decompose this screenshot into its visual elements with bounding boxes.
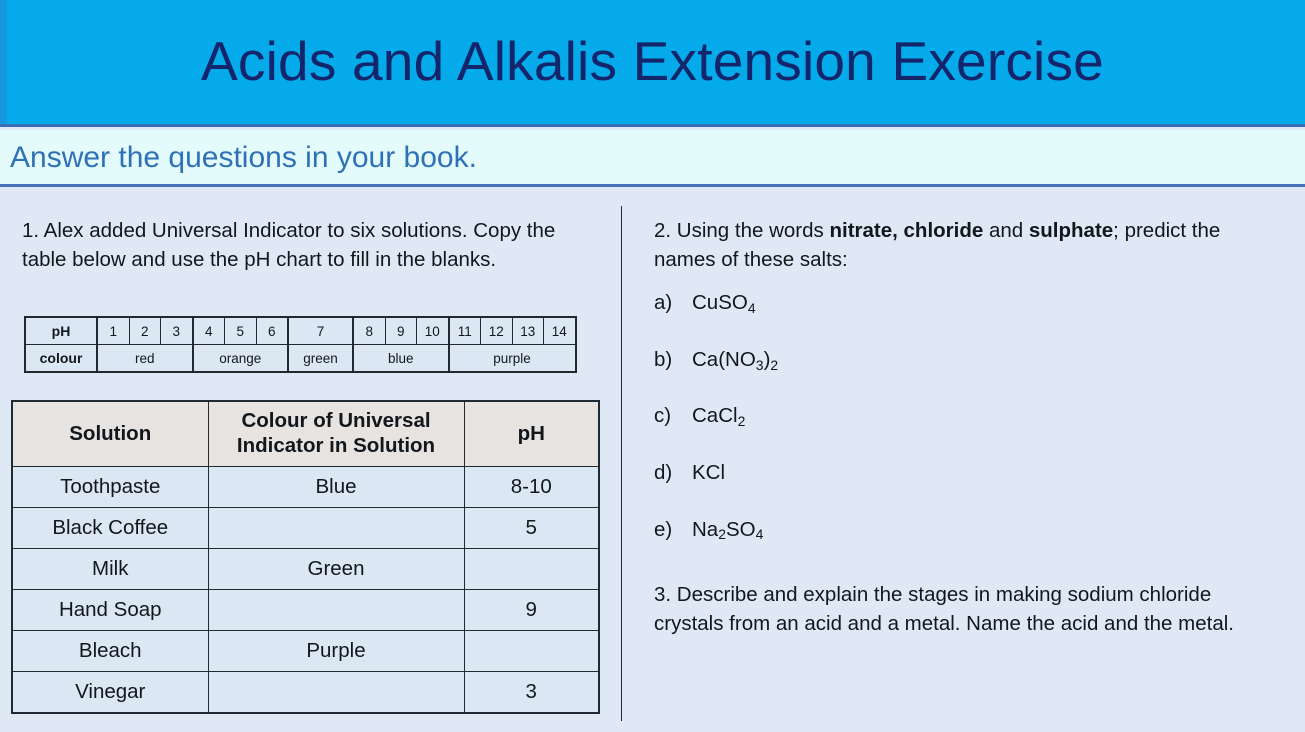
salt-letter: a) <box>654 290 692 317</box>
solutions-table: Solution Colour of Universal Indicator i… <box>11 400 600 714</box>
table-row: Black Coffee 5 <box>12 508 599 549</box>
column-header-colour: Colour of Universal Indicator in Solutio… <box>208 401 464 467</box>
subtitle-band: Answer the questions in your book. <box>0 130 1305 187</box>
ph-value-cell: 8 <box>353 317 385 345</box>
salt-formula: Na2SO4 <box>692 517 763 544</box>
ph-value-cell: 1 <box>97 317 129 345</box>
q2-middle: and <box>983 219 1029 242</box>
cell-ph <box>464 631 599 672</box>
page-title: Acids and Alkalis Extension Exercise <box>201 33 1104 91</box>
list-item: a) CuSO4 <box>654 290 1254 317</box>
ph-chart-row-colour: colour red orange green blue purple <box>25 345 576 373</box>
list-item: d) KCl <box>654 460 1254 487</box>
cell-ph: 3 <box>464 672 599 714</box>
q2-bold-nitrate-chloride: nitrate, chloride <box>829 219 983 242</box>
title-band: Acids and Alkalis Extension Exercise <box>0 0 1305 127</box>
salt-formula: Ca(NO3)2 <box>692 347 778 374</box>
right-column: 2. Using the words nitrate, chloride and… <box>640 190 1300 732</box>
cell-colour: Purple <box>208 631 464 672</box>
table-header-row: Solution Colour of Universal Indicator i… <box>12 401 599 467</box>
table-row: Hand Soap 9 <box>12 590 599 631</box>
table-row: Toothpaste Blue 8-10 <box>12 467 599 508</box>
salt-formula-list: a) CuSO4 b) Ca(NO3)2 c) CaCl2 d) KCl e) … <box>654 290 1254 573</box>
column-header-solution: Solution <box>12 401 208 467</box>
ph-colour-cell-purple: purple <box>449 345 576 373</box>
salt-formula: CaCl2 <box>692 403 745 430</box>
left-column: 1. Alex added Universal Indicator to six… <box>0 190 620 732</box>
content-area: 1. Alex added Universal Indicator to six… <box>0 190 1305 732</box>
q2-bold-sulphate: sulphate <box>1029 219 1113 242</box>
salt-letter: e) <box>654 517 692 544</box>
ph-value-cell: 13 <box>512 317 544 345</box>
salt-letter: c) <box>654 403 692 430</box>
column-divider <box>621 206 622 721</box>
salt-formula: KCl <box>692 460 725 487</box>
ph-value-cell: 3 <box>161 317 193 345</box>
list-item: b) Ca(NO3)2 <box>654 347 1254 374</box>
ph-colour-cell-blue: blue <box>353 345 449 373</box>
cell-ph <box>464 549 599 590</box>
ph-value-cell: 14 <box>544 317 576 345</box>
list-item: c) CaCl2 <box>654 403 1254 430</box>
column-header-ph: pH <box>464 401 599 467</box>
cell-solution: Bleach <box>12 631 208 672</box>
ph-value-cell: 11 <box>449 317 481 345</box>
ph-value-cell: 9 <box>385 317 417 345</box>
ph-chart-table: pH 1 2 3 4 5 6 7 8 9 10 11 12 13 14 <box>24 316 577 373</box>
salt-letter: d) <box>654 460 692 487</box>
ph-chart-label-colour: colour <box>25 345 97 373</box>
question-2-text: 2. Using the words nitrate, chloride and… <box>654 216 1254 274</box>
ph-colour-cell-red: red <box>97 345 193 373</box>
salt-letter: b) <box>654 347 692 374</box>
question-1-text: 1. Alex added Universal Indicator to six… <box>22 216 592 274</box>
table-row: Bleach Purple <box>12 631 599 672</box>
ph-value-cell: 10 <box>417 317 449 345</box>
question-3-text: 3. Describe and explain the stages in ma… <box>654 580 1279 638</box>
cell-colour <box>208 508 464 549</box>
ph-chart-label-ph: pH <box>25 317 97 345</box>
salt-formula: CuSO4 <box>692 290 756 317</box>
cell-colour <box>208 672 464 714</box>
cell-colour: Green <box>208 549 464 590</box>
ph-colour-cell-orange: orange <box>193 345 289 373</box>
ph-value-cell: 6 <box>256 317 288 345</box>
cell-solution: Vinegar <box>12 672 208 714</box>
ph-colour-cell-green: green <box>288 345 353 373</box>
ph-value-cell: 12 <box>481 317 513 345</box>
cell-solution: Black Coffee <box>12 508 208 549</box>
ph-value-cell: 5 <box>225 317 257 345</box>
list-item: e) Na2SO4 <box>654 517 1254 544</box>
cell-ph: 8-10 <box>464 467 599 508</box>
q2-prefix: 2. Using the words <box>654 219 829 242</box>
instruction-text: Answer the questions in your book. <box>10 141 477 174</box>
cell-solution: Milk <box>12 549 208 590</box>
ph-value-cell: 4 <box>193 317 225 345</box>
cell-colour: Blue <box>208 467 464 508</box>
ph-value-cell: 7 <box>288 317 353 345</box>
ph-value-cell: 2 <box>129 317 161 345</box>
table-row: Vinegar 3 <box>12 672 599 714</box>
cell-colour <box>208 590 464 631</box>
cell-solution: Hand Soap <box>12 590 208 631</box>
cell-ph: 5 <box>464 508 599 549</box>
table-row: Milk Green <box>12 549 599 590</box>
cell-ph: 9 <box>464 590 599 631</box>
ph-chart-row-ph: pH 1 2 3 4 5 6 7 8 9 10 11 12 13 14 <box>25 317 576 345</box>
cell-solution: Toothpaste <box>12 467 208 508</box>
